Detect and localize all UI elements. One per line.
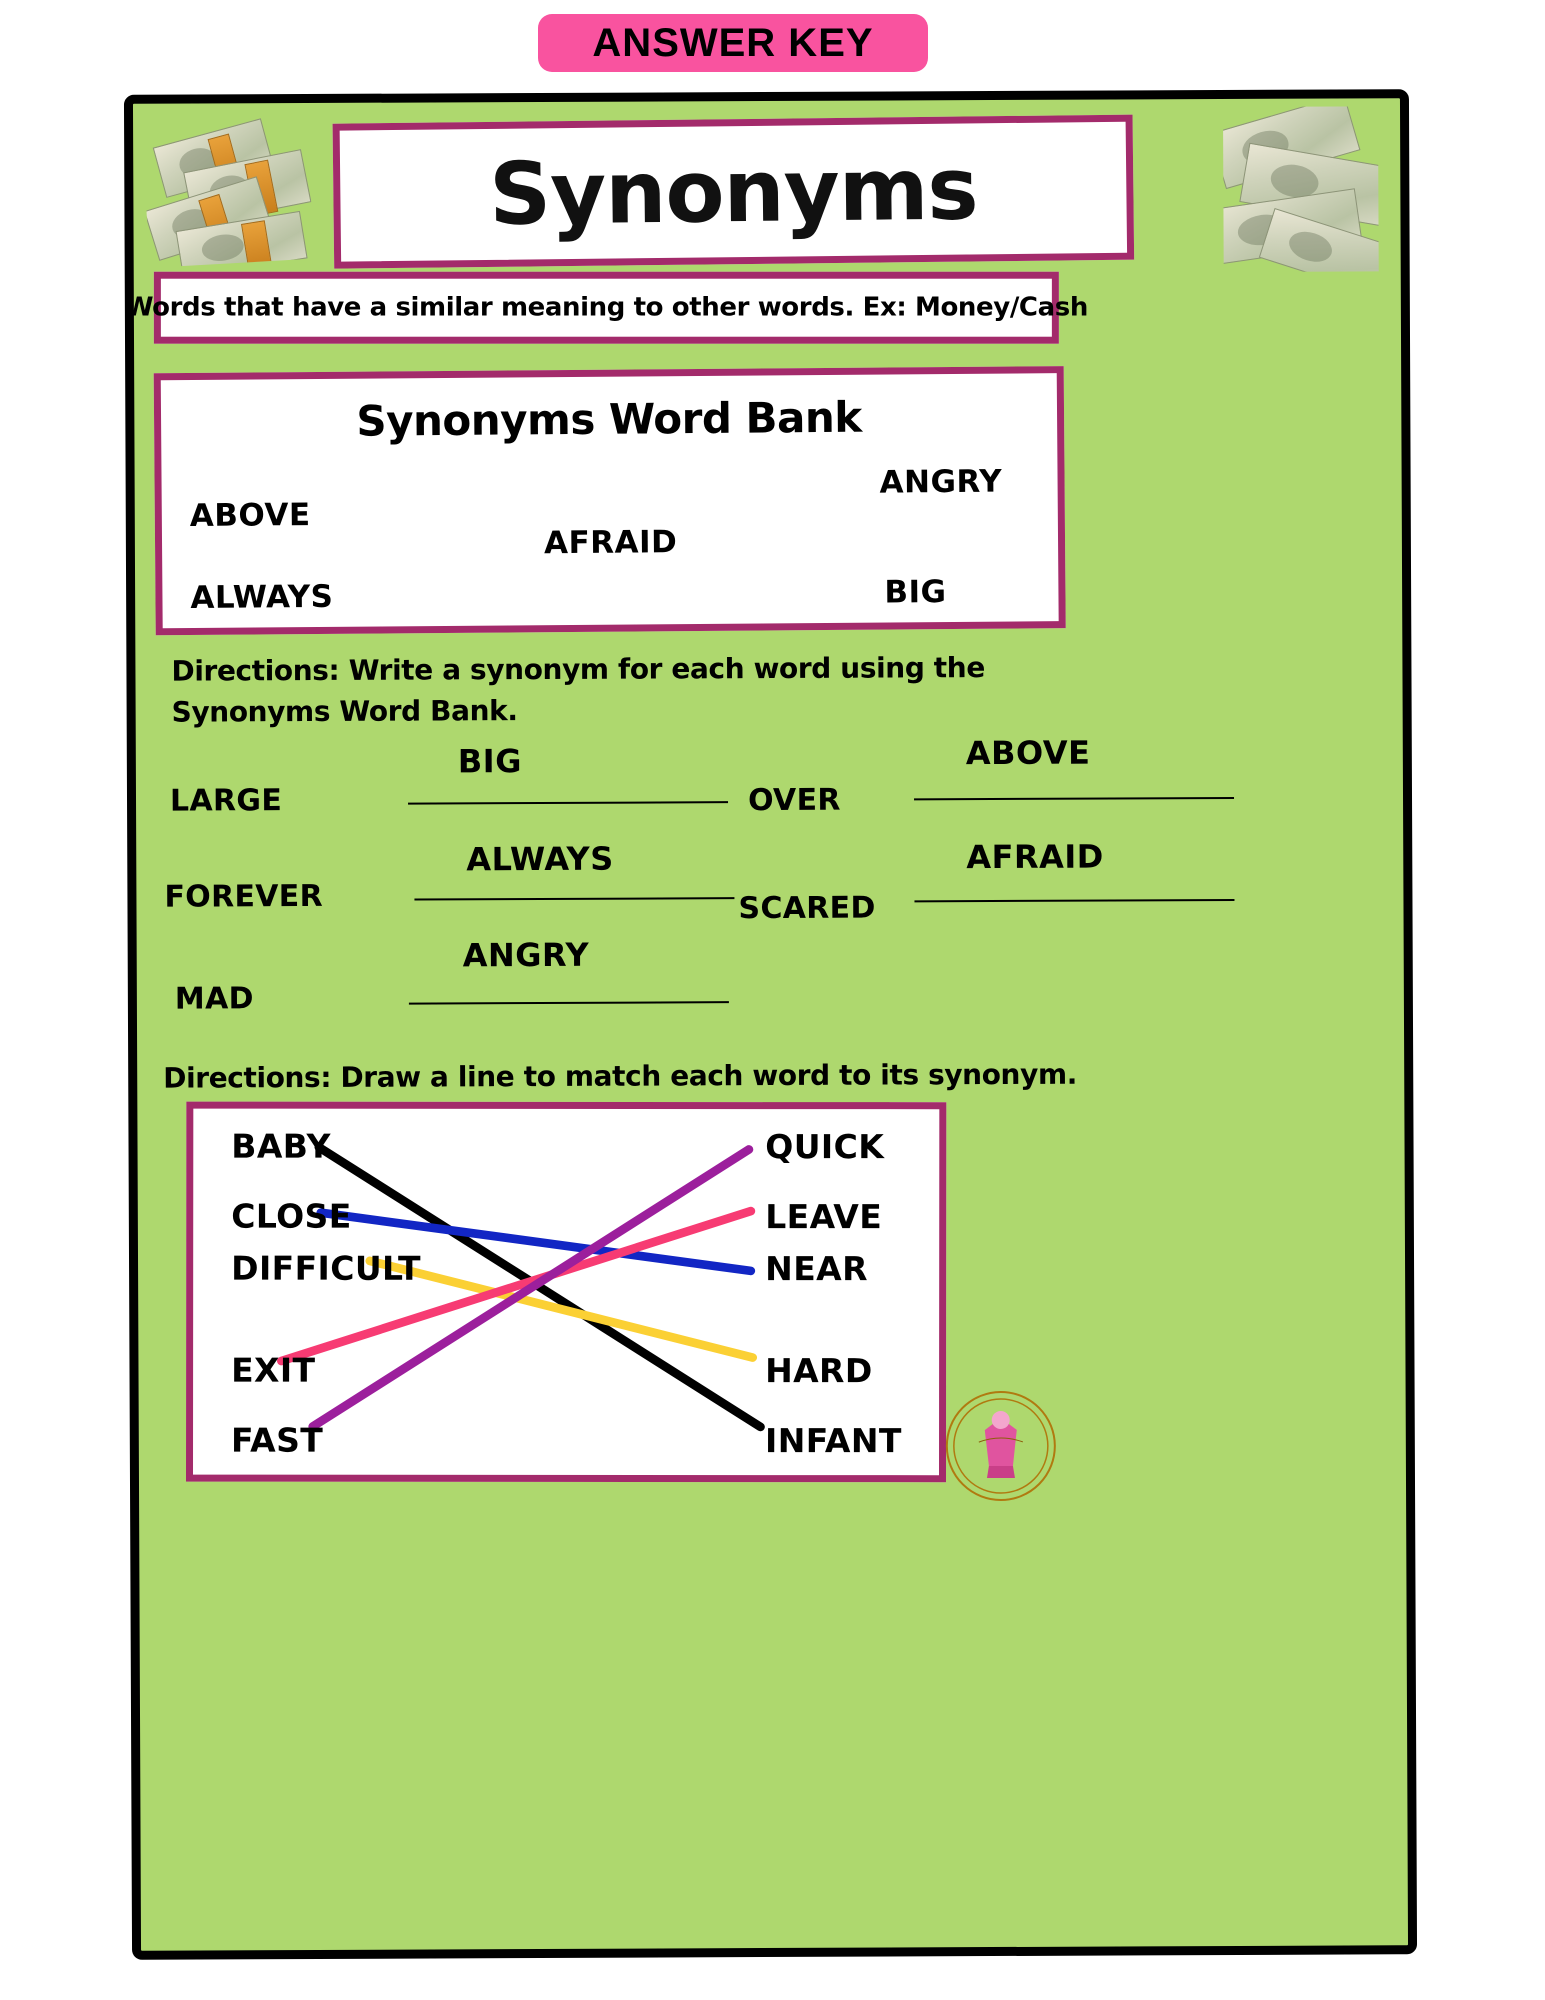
word-bank-word-afraid: AFRAID xyxy=(544,524,678,561)
word-bank-word-always: ALWAYS xyxy=(190,579,333,616)
match-line-fast-quick xyxy=(313,1149,749,1427)
directions-matching: Directions: Draw a line to match each wo… xyxy=(163,1054,1123,1099)
answer-key-label: ANSWER KEY xyxy=(592,23,873,63)
fib-line-over xyxy=(914,797,1234,800)
word-bank-heading: Synonyms Word Bank xyxy=(161,391,1057,447)
fib-prompt-mad: MAD xyxy=(175,981,254,1016)
fib-answer-large: BIG xyxy=(458,742,522,780)
money-stacks-image xyxy=(141,109,314,268)
fib-prompt-scared: SCARED xyxy=(738,891,875,927)
page-title: Synonyms xyxy=(489,146,978,238)
fib-prompt-large: LARGE xyxy=(170,783,282,818)
answer-key-badge: ANSWER KEY xyxy=(538,14,928,72)
word-bank-word-big: BIG xyxy=(884,574,946,610)
definition-text: Words that have a similar meaning to oth… xyxy=(125,293,1088,323)
match-word-quick[interactable]: QUICK xyxy=(765,1127,884,1166)
fib-answer-mad: ANGRY xyxy=(463,936,590,975)
match-line-difficult-hard xyxy=(370,1261,753,1358)
fib-answer-over: ABOVE xyxy=(966,734,1091,773)
money-bills-image xyxy=(1223,106,1379,272)
match-word-difficult[interactable]: DIFFICULT xyxy=(231,1249,421,1288)
match-word-infant[interactable]: INFANT xyxy=(765,1421,902,1460)
fib-line-mad xyxy=(409,1001,729,1004)
directions-fill-in: Directions: Write a synonym for each wor… xyxy=(171,648,1091,733)
matching-card: BABY CLOSE DIFFICULT EXIT FAST QUICK LEA… xyxy=(186,1102,946,1483)
word-bank-word-angry: ANGRY xyxy=(879,464,1002,501)
fib-prompt-forever: FOREVER xyxy=(164,879,323,915)
title-card: Synonyms xyxy=(333,115,1135,269)
match-word-close[interactable]: CLOSE xyxy=(231,1197,351,1236)
match-word-fast[interactable]: FAST xyxy=(231,1421,323,1460)
match-word-hard[interactable]: HARD xyxy=(765,1351,873,1390)
speech-therapy-boutique-logo xyxy=(945,1390,1057,1502)
word-bank-word-above: ABOVE xyxy=(190,497,311,534)
fib-line-forever xyxy=(414,897,734,900)
match-word-leave[interactable]: LEAVE xyxy=(765,1197,882,1236)
fib-prompt-over: OVER xyxy=(748,783,841,818)
match-word-near[interactable]: NEAR xyxy=(765,1249,868,1288)
fib-answer-forever: ALWAYS xyxy=(466,840,614,879)
definition-card: Words that have a similar meaning to oth… xyxy=(154,272,1059,344)
match-word-baby[interactable]: BABY xyxy=(231,1127,331,1166)
fib-line-scared xyxy=(914,899,1234,902)
word-bank-card: Synonyms Word Bank ABOVE AFRAID ANGRY AL… xyxy=(154,366,1066,635)
worksheet-page: Synonyms Words that have a similar meani… xyxy=(124,89,1417,1960)
match-word-exit[interactable]: EXIT xyxy=(231,1351,315,1390)
fib-line-large xyxy=(408,801,728,804)
fib-answer-scared: AFRAID xyxy=(966,838,1104,877)
